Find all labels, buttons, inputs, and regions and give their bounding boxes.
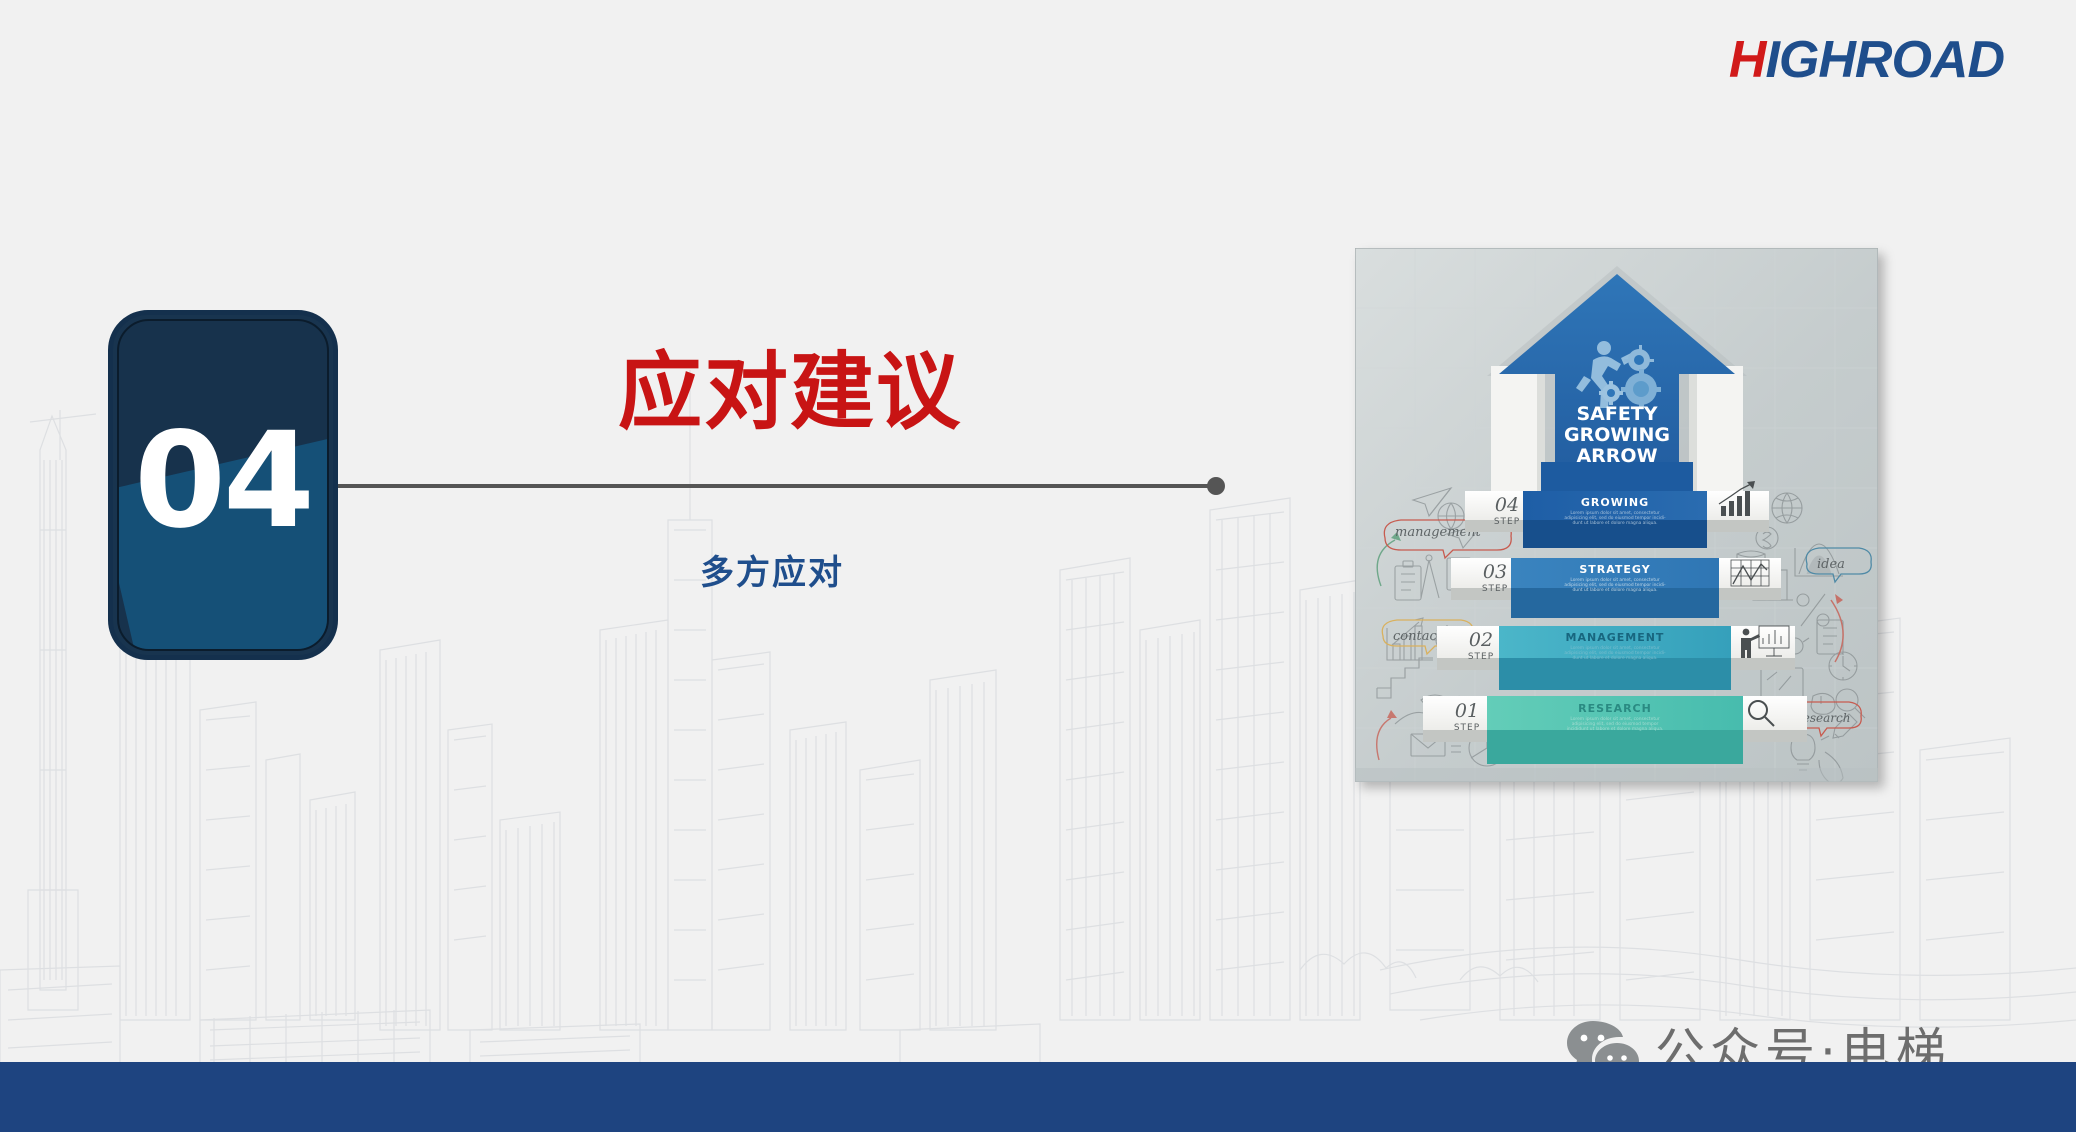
svg-text:STEP: STEP: [1468, 652, 1494, 662]
svg-text:MANAGEMENT: MANAGEMENT: [1566, 631, 1665, 644]
connector-line: [338, 484, 1218, 488]
svg-text:idea: idea: [1817, 557, 1845, 572]
section-number-text: 04: [108, 310, 338, 660]
page-title: 应对建议: [618, 348, 962, 436]
svg-text:incididunt ut labore et dolore: incididunt ut labore et dolore magna ali…: [1567, 726, 1664, 732]
svg-text:dunt ut labore et dolore magna: dunt ut labore et dolore magna aliqua.: [1573, 655, 1658, 661]
bottom-accent-bar: [0, 1062, 2076, 1132]
section-number-badge: 04: [108, 310, 338, 660]
svg-text:RESEARCH: RESEARCH: [1578, 702, 1652, 715]
arrow-title-line2: GROWING: [1564, 424, 1670, 446]
svg-text:contact: contact: [1393, 629, 1443, 644]
svg-text:02: 02: [1469, 629, 1493, 651]
svg-text:dunt ut labore et dolore magna: dunt ut labore et dolore magna aliqua.: [1573, 587, 1658, 593]
svg-text:03: 03: [1483, 561, 1507, 583]
svg-text:STEP: STEP: [1454, 723, 1480, 733]
svg-text:STRATEGY: STRATEGY: [1579, 563, 1650, 576]
safety-growing-arrow-infographic: management contact: [1355, 248, 1878, 782]
svg-text:STEP: STEP: [1482, 584, 1508, 594]
connector-end-dot: [1207, 477, 1225, 495]
svg-text:dunt ut labore et dolore magna: dunt ut labore et dolore magna aliqua.: [1573, 520, 1658, 526]
svg-text:STEP: STEP: [1494, 517, 1520, 527]
page-subtitle: 多方应对: [700, 545, 844, 594]
svg-text:GROWING: GROWING: [1581, 496, 1649, 509]
slide-canvas: HIGHROAD 04 应对建议 多方应对: [0, 0, 2076, 1132]
arrow-title-line1: SAFETY: [1576, 403, 1657, 425]
svg-text:01: 01: [1455, 700, 1479, 722]
logo-remaining-letters: IGHROAD: [1765, 31, 2004, 89]
svg-text:04: 04: [1495, 494, 1519, 516]
logo-first-letter: H: [1729, 31, 1766, 89]
arrow-title-line3: ARROW: [1576, 445, 1657, 467]
brand-logo: HIGHROAD: [1729, 34, 2004, 86]
